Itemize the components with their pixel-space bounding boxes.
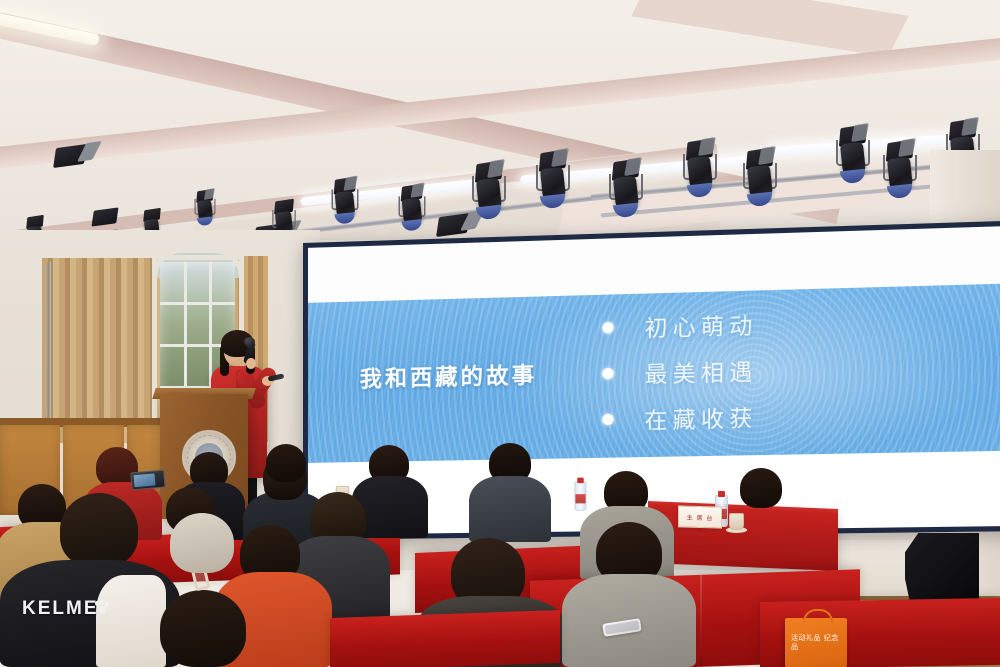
slide-bullet-label: 最美相遇 bbox=[645, 354, 758, 389]
shopping-bag-text: 活动礼品 纪念品 bbox=[791, 634, 841, 652]
slide-bullet-item: 初心萌动 bbox=[602, 308, 758, 345]
paper-cup bbox=[729, 513, 744, 530]
loudspeaker-cabinet bbox=[905, 533, 979, 607]
slide-bullet-label: 初心萌动 bbox=[645, 308, 758, 344]
bullet-dot-icon bbox=[602, 368, 613, 379]
water-bottle bbox=[575, 481, 587, 510]
bullet-dot-icon bbox=[602, 414, 613, 425]
paw-print-icon bbox=[95, 601, 110, 615]
audience-table bbox=[330, 610, 560, 667]
slide-title: 我和西藏的故事 bbox=[360, 357, 537, 393]
smartphone-recording bbox=[130, 470, 165, 491]
presenter-hand bbox=[246, 358, 256, 369]
wall-pipe bbox=[46, 262, 51, 440]
nameplate-text: 主 席 台 bbox=[687, 512, 714, 522]
conference-hall-photo: 我和西藏的故事 初心萌动 最美相遇 在藏收获 bbox=[0, 0, 1000, 667]
shopping-bag: 活动礼品 纪念品 bbox=[785, 618, 847, 667]
table-nameplate: 主 席 台 bbox=[678, 505, 722, 528]
slide-bullet-item: 最美相遇 bbox=[602, 354, 758, 390]
slide-bullet-list: 初心萌动 最美相遇 在藏收获 bbox=[602, 308, 758, 450]
bullet-dot-icon bbox=[602, 322, 613, 334]
slide-bullet-item: 在藏收获 bbox=[602, 400, 758, 436]
kelme-brand-text: KELME bbox=[22, 598, 99, 620]
slide-bullet-label: 在藏收获 bbox=[645, 400, 758, 435]
microphone-icon bbox=[244, 337, 255, 347]
